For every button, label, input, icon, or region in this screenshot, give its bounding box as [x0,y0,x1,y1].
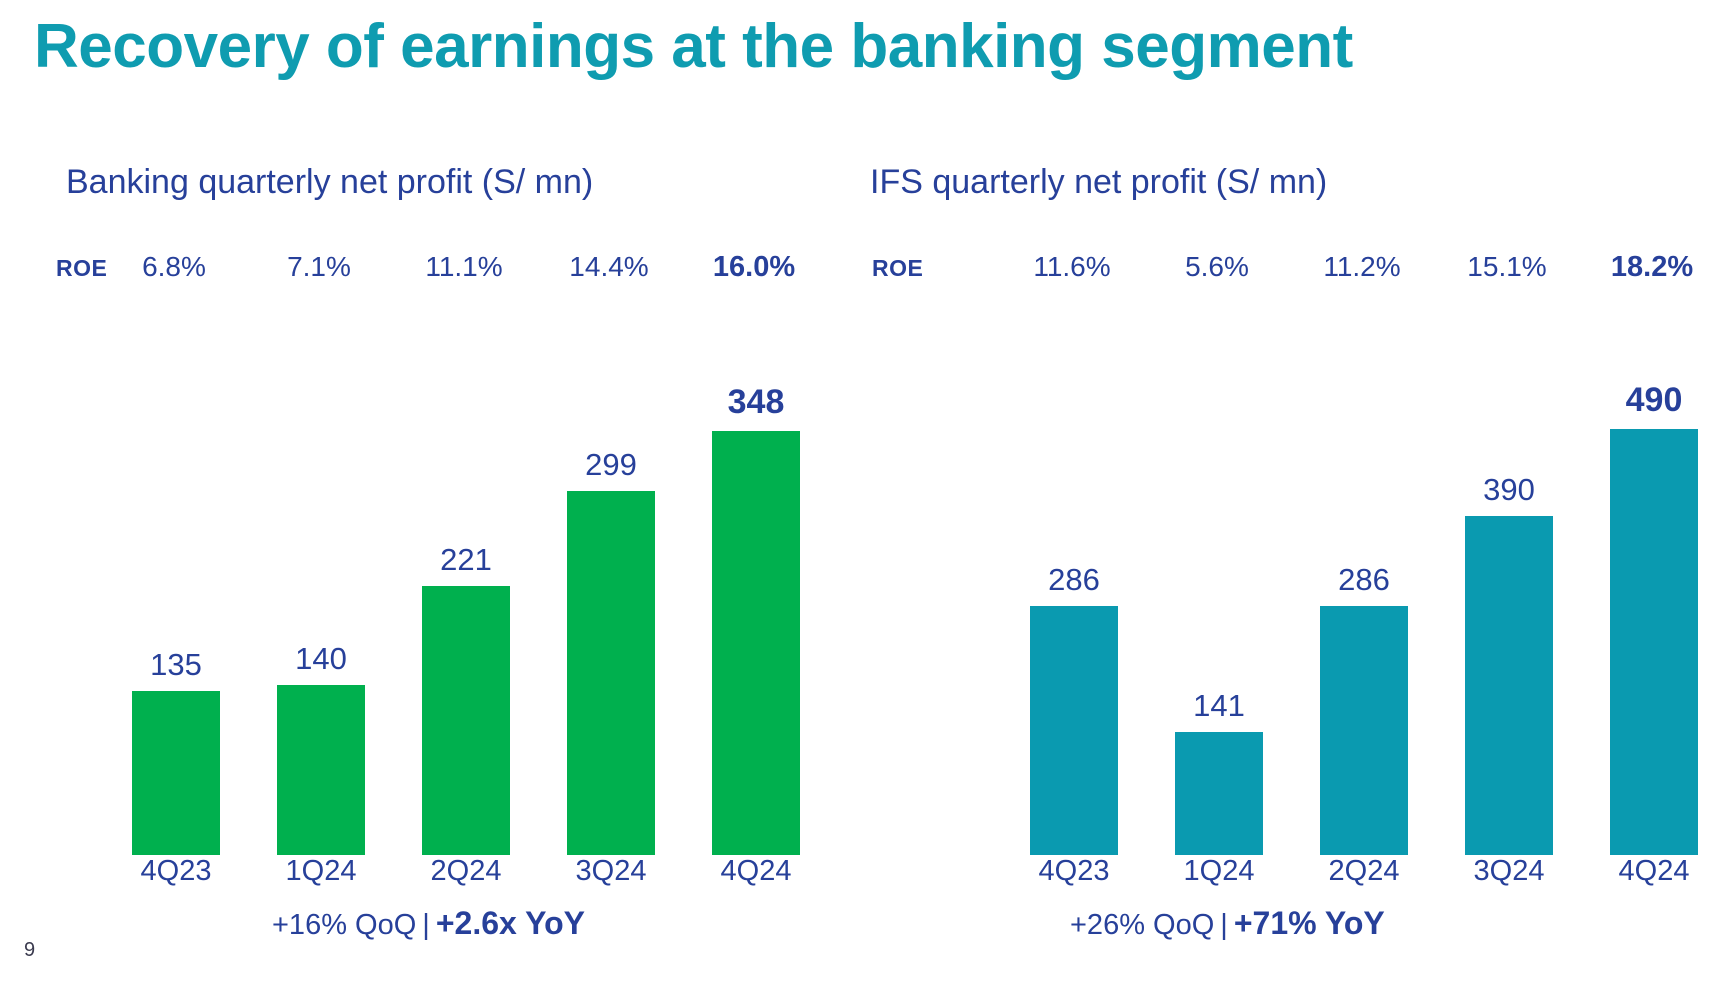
x-axis-label-ifs-4Q24: 4Q24 [1584,855,1716,888]
x-axis-label-ifs-4Q23: 4Q23 [1004,855,1144,888]
x-axis-label-ifs-2Q24: 2Q24 [1294,855,1434,888]
bar-value-banking-4Q24: 348 [686,383,826,422]
footer-banking: +16% QoQ|+2.6x YoY [272,905,585,942]
bar-banking-2Q24 [422,586,510,855]
slide-canvas: Recovery of earnings at the banking segm… [0,0,1716,986]
bar-banking-1Q24 [277,685,365,855]
x-axis-label-banking-1Q24: 1Q24 [251,855,391,888]
x-axis-label-ifs-1Q24: 1Q24 [1149,855,1289,888]
bar-value-ifs-1Q24: 141 [1149,688,1289,724]
bar-banking-4Q24 [712,431,800,855]
bar-plot-banking: 1354Q231401Q242212Q242993Q243484Q24 [0,0,858,986]
bar-plot-ifs: 2864Q231411Q242862Q243903Q244904Q24 [858,0,1716,986]
bar-value-ifs-4Q23: 286 [1004,562,1144,598]
x-axis-label-banking-2Q24: 2Q24 [396,855,536,888]
page-number: 9 [24,939,35,962]
bar-ifs-1Q24 [1175,732,1263,855]
bar-ifs-4Q24 [1610,429,1698,855]
bar-value-banking-2Q24: 221 [396,542,536,578]
footer-ifs: +26% QoQ|+71% YoY [1070,905,1385,942]
footer-yoy-banking: +2.6x YoY [436,905,585,941]
chart-panel-ifs: IFS quarterly net profit (S/ mn) 11.6%5.… [858,0,1716,986]
bar-banking-4Q23 [132,691,220,855]
footer-separator-ifs: | [1214,909,1234,941]
x-axis-label-banking-3Q24: 3Q24 [541,855,681,888]
x-axis-label-banking-4Q23: 4Q23 [106,855,246,888]
bar-ifs-2Q24 [1320,606,1408,855]
bar-banking-3Q24 [567,491,655,855]
bar-ifs-3Q24 [1465,516,1553,855]
bar-value-banking-4Q23: 135 [106,647,246,683]
footer-qoq-banking: +16% QoQ [272,909,416,941]
x-axis-label-banking-4Q24: 4Q24 [686,855,826,888]
bar-ifs-4Q23 [1030,606,1118,855]
x-axis-label-ifs-3Q24: 3Q24 [1439,855,1579,888]
bar-value-banking-3Q24: 299 [541,447,681,483]
footer-separator-banking: | [416,909,436,941]
chart-panel-banking: Banking quarterly net profit (S/ mn) 6.8… [0,0,858,986]
footer-qoq-ifs: +26% QoQ [1070,909,1214,941]
bar-value-banking-1Q24: 140 [251,641,391,677]
bar-value-ifs-4Q24: 490 [1584,381,1716,420]
bar-value-ifs-2Q24: 286 [1294,562,1434,598]
footer-yoy-ifs: +71% YoY [1234,905,1385,941]
bar-value-ifs-3Q24: 390 [1439,472,1579,508]
